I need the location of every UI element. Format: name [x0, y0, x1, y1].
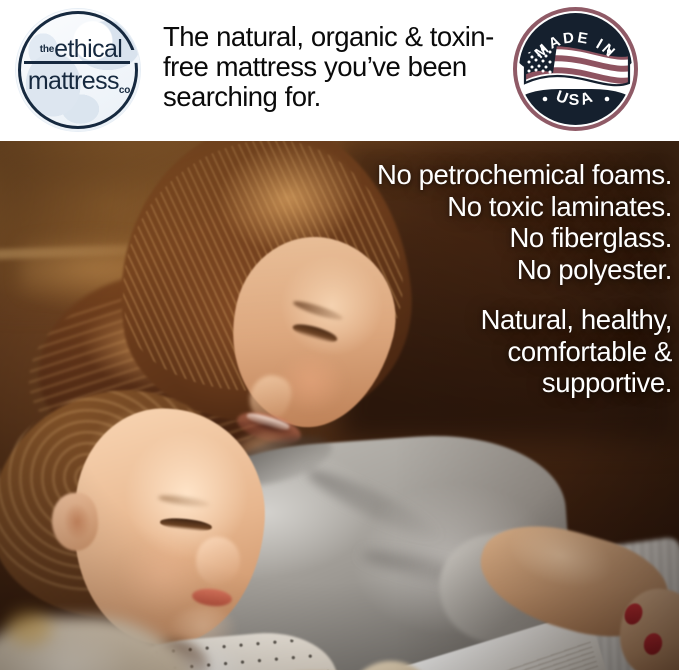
- logo-prefix: the: [40, 44, 54, 55]
- header-bar: theethical mattressco The natural, organ…: [0, 0, 679, 141]
- svg-text:USA: USA: [553, 88, 597, 109]
- claim-line: No fiberglass.: [377, 222, 672, 254]
- overlay-claims-block: No petrochemical foams. No toxic laminat…: [377, 159, 672, 285]
- logo-word-ethical: ethical: [54, 35, 122, 63]
- logo-suffix: co: [119, 85, 130, 96]
- badge-inner: MADE IN USA: [519, 13, 632, 125]
- overlay-benefits-block: Natural, healthy, comfortable & supporti…: [481, 304, 672, 399]
- logo-line-two: mattressco: [23, 67, 135, 96]
- badge-text: MADE IN USA: [519, 13, 632, 125]
- advertisement-banner: theethical mattressco The natural, organ…: [0, 0, 679, 670]
- svg-text:MADE IN: MADE IN: [531, 29, 619, 62]
- brand-logo[interactable]: theethical mattressco: [16, 9, 140, 131]
- claim-line: No toxic laminates.: [377, 191, 672, 223]
- pillow-accent: [6, 611, 52, 645]
- benefit-line: comfortable &: [481, 336, 672, 368]
- badge-bottom-label: USA: [553, 88, 597, 109]
- badge-top-label: MADE IN: [531, 29, 619, 62]
- child-cheek: [118, 541, 204, 615]
- logo-word-mattress: mattress: [28, 67, 119, 95]
- claim-line: No petrochemical foams.: [377, 159, 672, 191]
- benefit-line: supportive.: [481, 367, 672, 399]
- logo-line-one: theethical: [27, 35, 135, 64]
- claim-line: No polyester.: [377, 254, 672, 286]
- made-in-usa-badge: MADE IN USA: [513, 7, 638, 131]
- headline-text: The natural, organic & toxin-free mattre…: [163, 22, 503, 112]
- benefit-line: Natural, healthy,: [481, 304, 672, 336]
- hero-photo: No petrochemical foams. No toxic laminat…: [0, 141, 679, 670]
